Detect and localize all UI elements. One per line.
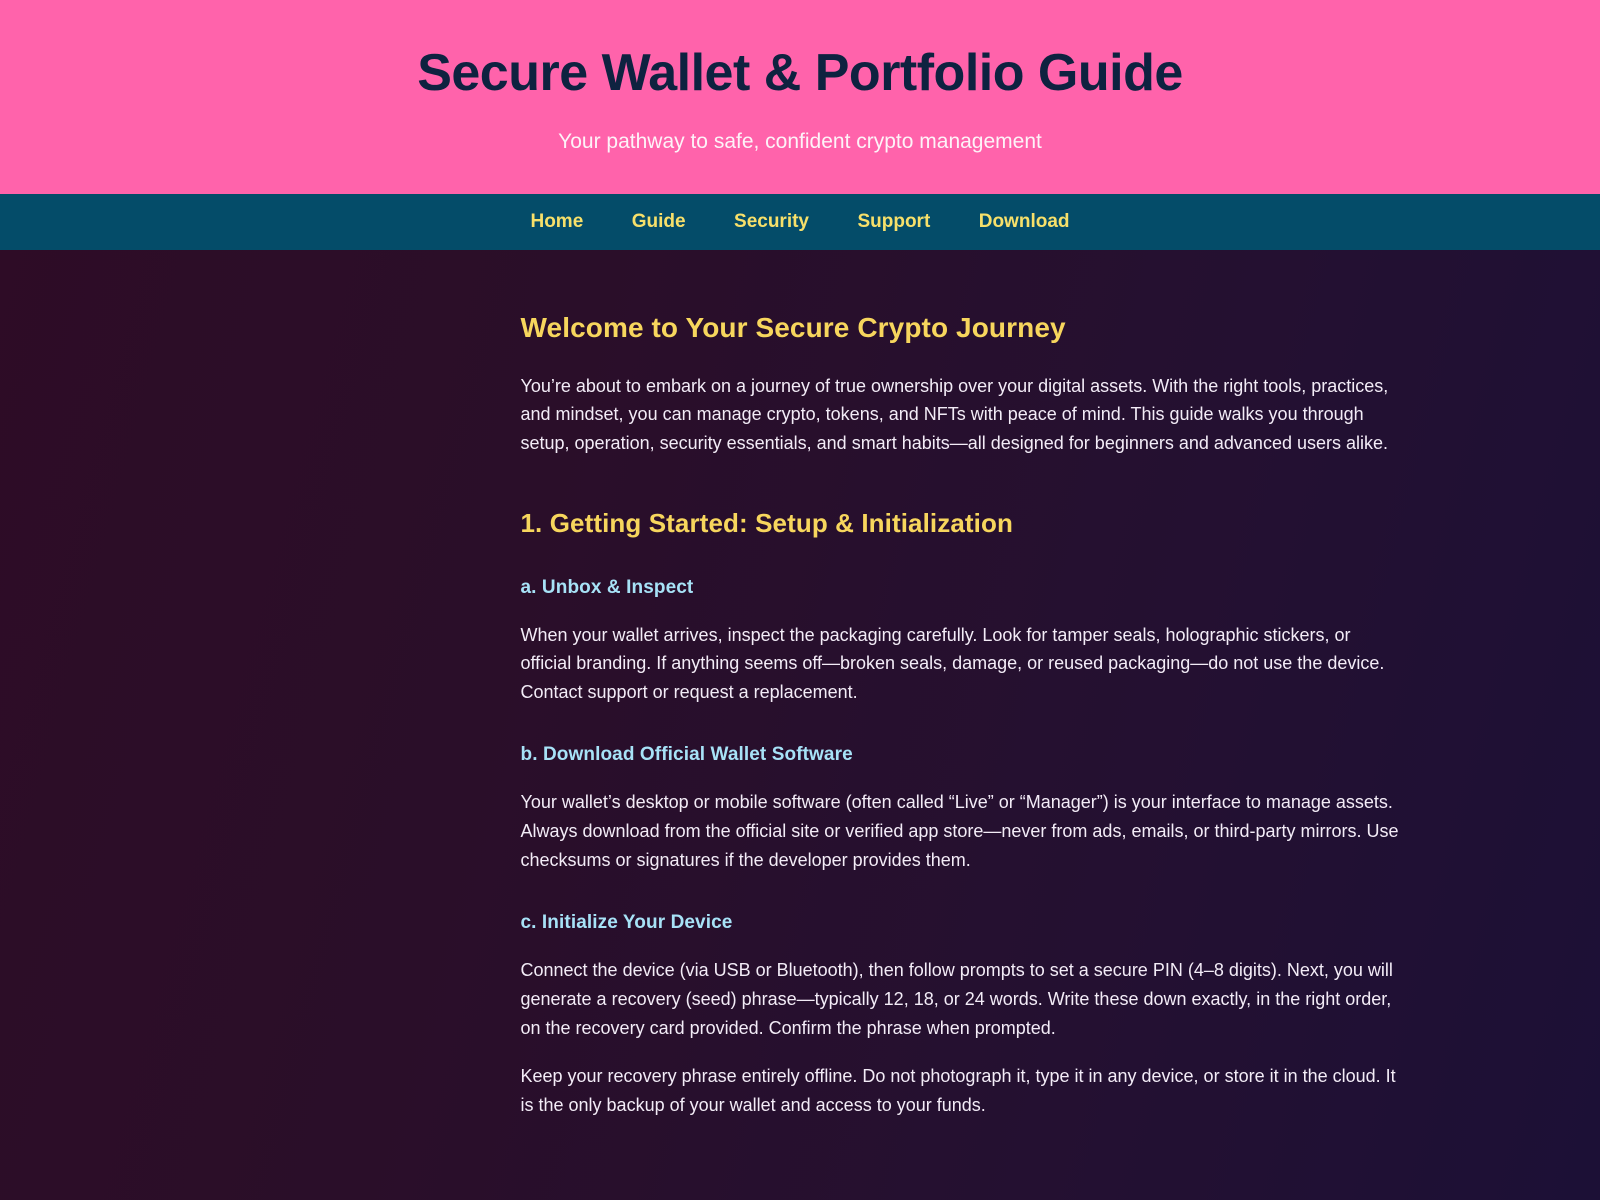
primary-navigation: Home Guide Security Support Download: [0, 194, 1600, 250]
paragraph-unbox-inspect: When your wallet arrives, inspect the pa…: [521, 621, 1403, 707]
nav-link-support[interactable]: Support: [857, 211, 930, 233]
main-content: Welcome to Your Secure Crypto Journey Yo…: [521, 250, 1403, 1180]
page-title: Secure Wallet & Portfolio Guide: [20, 44, 1580, 104]
paragraph-initialize-device-1: Connect the device (via USB or Bluetooth…: [521, 956, 1403, 1042]
nav-link-security[interactable]: Security: [734, 211, 809, 233]
paragraph-download-software: Your wallet’s desktop or mobile software…: [521, 788, 1403, 874]
subheading-initialize-device: c. Initialize Your Device: [521, 912, 1403, 934]
site-header: Secure Wallet & Portfolio Guide Your pat…: [0, 0, 1600, 194]
nav-link-download[interactable]: Download: [979, 211, 1070, 233]
welcome-heading: Welcome to Your Secure Crypto Journey: [521, 312, 1403, 344]
subheading-download-software: b. Download Official Wallet Software: [521, 744, 1403, 766]
content-wrapper: Welcome to Your Secure Crypto Journey Yo…: [178, 250, 1423, 1180]
welcome-paragraph: You’re about to embark on a journey of t…: [521, 372, 1403, 458]
section-heading-getting-started: 1. Getting Started: Setup & Initializati…: [521, 508, 1403, 539]
nav-link-home[interactable]: Home: [530, 211, 583, 233]
paragraph-initialize-device-2: Keep your recovery phrase entirely offli…: [521, 1062, 1403, 1119]
subheading-unbox-inspect: a. Unbox & Inspect: [521, 577, 1403, 599]
nav-link-guide[interactable]: Guide: [632, 211, 686, 233]
page-subtitle: Your pathway to safe, confident crypto m…: [20, 130, 1580, 154]
